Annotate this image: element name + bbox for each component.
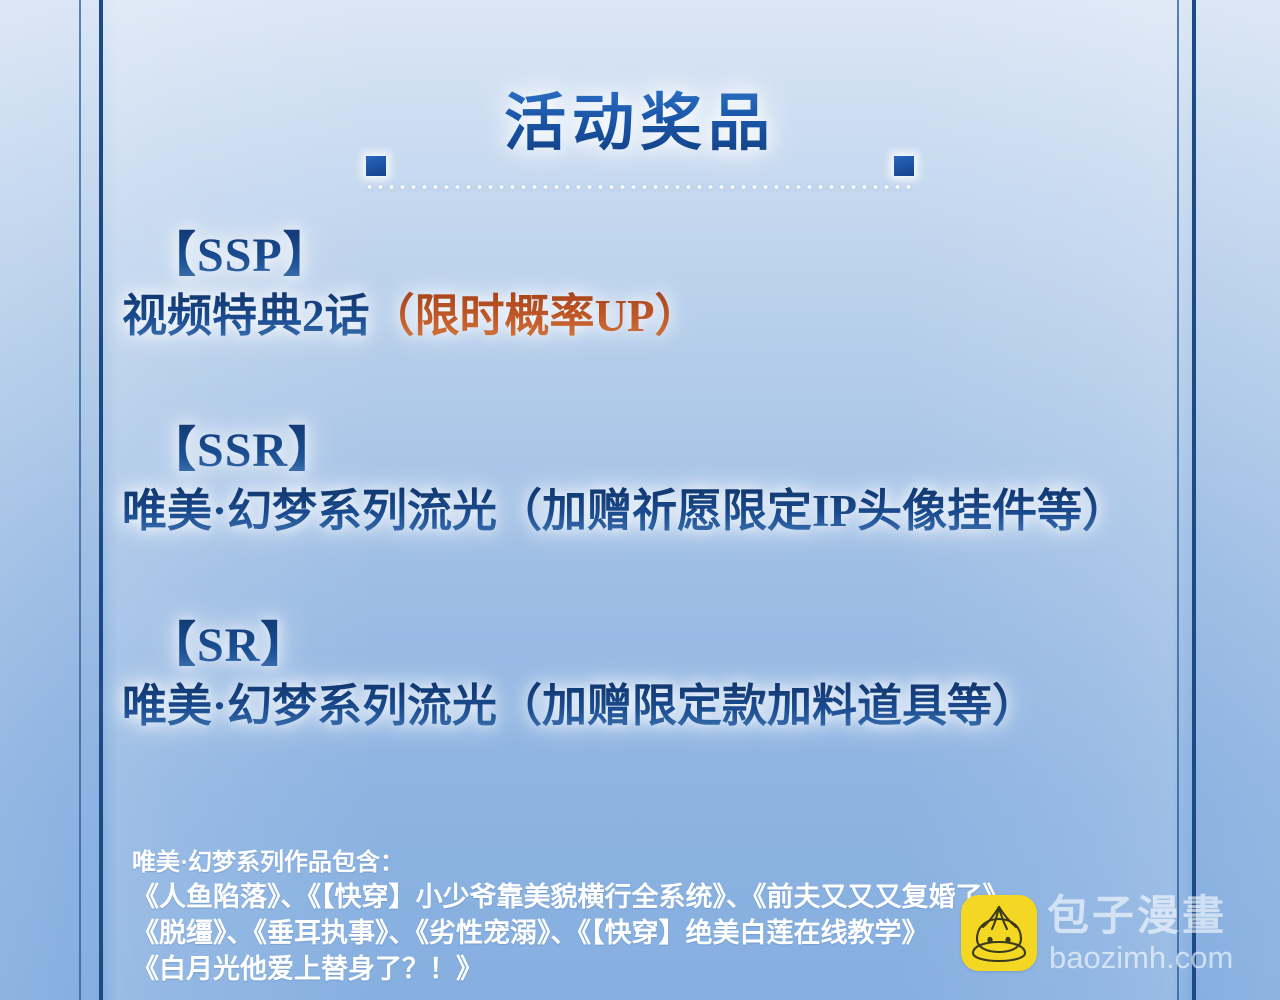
prize-description-ssr: 唯美·幻梦系列流光（加赠祈愿限定IP头像挂件等） — [0, 483, 1280, 539]
prize-description-accent-ssp: （限时概率UP） — [370, 291, 700, 341]
prize-description-main-ssr: 唯美·幻梦系列流光（加赠祈愿限定IP头像挂件等） — [122, 486, 1127, 536]
prize-description-ssp: 视频特典2话（限时概率UP） — [0, 288, 1280, 344]
page-title: 活动奖品 — [0, 88, 1280, 160]
square-marker-left-icon — [366, 156, 386, 176]
page-header: 活动奖品 — [0, 88, 1280, 203]
prize-announcement-page: 活动奖品 【SSP】 视频特典2话（限时概率UP） 【SSR】 唯美·幻梦系列流… — [0, 0, 1280, 1000]
prize-rank-sr: 【SR】 — [0, 618, 1280, 674]
series-note: 唯美·幻梦系列作品包含： 《人鱼陷落》、《【快穿】小少爷靠美貌横行全系统》、《前… — [132, 848, 1152, 987]
prize-block-ssr: 【SSR】 唯美·幻梦系列流光（加赠祈愿限定IP头像挂件等） — [0, 423, 1280, 539]
prize-description-main-sr: 唯美·幻梦系列流光（加赠限定款加料道具等） — [122, 681, 1037, 731]
dotted-divider — [364, 184, 916, 190]
series-note-line-3: 《白月光他爱上替身了？！》 — [132, 951, 1152, 987]
prize-description-sr: 唯美·幻梦系列流光（加赠限定款加料道具等） — [0, 678, 1280, 734]
prize-description-main-ssp: 视频特典2话 — [122, 291, 370, 341]
series-note-lead: 唯美·幻梦系列作品包含： — [132, 848, 1152, 879]
square-marker-right-icon — [894, 156, 914, 176]
prize-block-ssp: 【SSP】 视频特典2话（限时概率UP） — [0, 228, 1280, 344]
prize-block-sr: 【SR】 唯美·幻梦系列流光（加赠限定款加料道具等） — [0, 618, 1280, 734]
prize-rank-ssp: 【SSP】 — [0, 228, 1280, 284]
series-note-line-2: 《脱缰》、《垂耳执事》、《劣性宠溺》、《【快穿】绝美白莲在线教学》 — [132, 915, 1152, 951]
prize-rank-ssr: 【SSR】 — [0, 423, 1280, 479]
series-note-line-1: 《人鱼陷落》、《【快穿】小少爷靠美貌横行全系统》、《前夫又又又复婚了》 — [132, 879, 1152, 915]
